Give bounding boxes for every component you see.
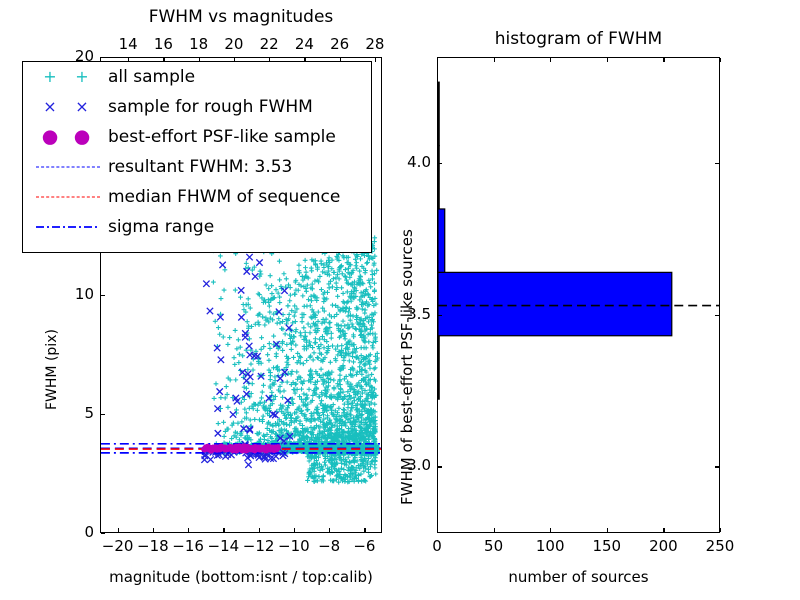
legend-label: resultant FWHM: 3.53 <box>108 159 292 176</box>
tick-label: 10 <box>56 285 94 303</box>
right-plot-axes <box>437 57 720 533</box>
legend-key <box>30 187 108 207</box>
figure-canvas: FWHM vs magnitudes 1416182022242628 −20−… <box>0 0 800 600</box>
histogram-bar <box>438 209 445 272</box>
hist-x-tick-top <box>720 58 721 62</box>
x-tick-mark <box>118 528 119 532</box>
legend-key <box>30 217 108 237</box>
legend-label: best-effort PSF-like sample <box>108 129 336 146</box>
y-tick-mark <box>101 295 105 296</box>
hist-x-tick-top <box>663 58 664 62</box>
hist-y-tick-mark-right <box>715 315 719 316</box>
plus-icon: + <box>75 69 88 85</box>
legend-entry: ××sample for rough FWHM <box>23 92 371 122</box>
dashdot-line-icon <box>36 224 100 230</box>
dashed-line-icon <box>36 167 100 168</box>
histogram-bars <box>438 82 672 399</box>
hist-y-tick-mark-right <box>715 163 719 164</box>
legend-entry: ++all sample <box>23 62 371 92</box>
left-plot-xlabel: magnitude (bottom:isnt / top:calib) <box>100 568 382 586</box>
right-plot-title: histogram of FWHM <box>437 29 720 49</box>
right-plot-ylabel: FWHM of best-effort PSF-like sources <box>398 229 416 505</box>
legend-key: ++ <box>30 67 108 87</box>
left-plot-ylabel: FWHM (pix) <box>44 329 60 410</box>
y-tick-mark <box>101 533 105 534</box>
hist-x-tick-top <box>494 58 495 62</box>
histogram-bar <box>438 272 672 335</box>
tick-label: 5 <box>56 404 94 422</box>
y-tick-mark <box>101 57 105 58</box>
hist-y-tick-mark <box>438 466 442 467</box>
tick-label: 20 <box>214 35 254 53</box>
hist-x-tick-top <box>437 58 438 62</box>
legend-key: ●● <box>30 127 108 147</box>
tick-label: 150 <box>585 537 629 555</box>
tick-label: 22 <box>249 35 289 53</box>
top-x-tick-mark <box>375 58 376 62</box>
hist-y-tick-mark-right <box>715 466 719 467</box>
x-tick-mark <box>364 528 365 532</box>
tick-label: 100 <box>528 537 572 555</box>
legend-label: sample for rough FWHM <box>108 99 313 116</box>
plus-icon: + <box>43 69 56 85</box>
legend-key: ×× <box>30 97 108 117</box>
y-tick-mark <box>101 414 105 415</box>
legend-key <box>30 157 108 177</box>
x-tick-mark <box>223 528 224 532</box>
histogram-bar <box>438 146 439 209</box>
legend-entry: ●●best-effort PSF-like sample <box>23 122 371 152</box>
legend-label: sigma range <box>108 219 214 236</box>
hist-y-tick-mark <box>438 163 442 164</box>
tick-label: 50 <box>472 537 516 555</box>
legend-label: median FHWM of sequence <box>108 189 340 206</box>
x-tick-mark <box>329 528 330 532</box>
left-plot-title: FWHM vs magnitudes <box>100 7 382 27</box>
hist-x-tick-mark <box>550 528 551 532</box>
legend-box: ++all sample××sample for rough FWHM●●bes… <box>22 61 372 253</box>
dashed-line-icon <box>36 197 100 198</box>
tick-label: 4.0 <box>393 153 431 171</box>
tick-label: 200 <box>641 537 685 555</box>
histogram-bar <box>438 336 439 399</box>
histogram-plot-area <box>438 58 719 532</box>
tick-label: 0 <box>56 523 94 541</box>
right-plot-xlabel: number of sources <box>437 568 720 586</box>
filled-dot-icon: ● <box>74 128 91 147</box>
hist-x-tick-mark <box>663 528 664 532</box>
hist-x-tick-mark <box>494 528 495 532</box>
tick-label: 16 <box>143 35 183 53</box>
hist-y-tick-mark <box>438 315 442 316</box>
hist-x-tick-mark <box>720 528 721 532</box>
hist-x-tick-top <box>607 58 608 62</box>
tick-label: 18 <box>179 35 219 53</box>
tick-label: 28 <box>355 35 395 53</box>
filled-dot-icon: ● <box>42 128 59 147</box>
x-tick-mark <box>294 528 295 532</box>
histogram-bar <box>438 82 439 145</box>
tick-label: −6 <box>342 537 386 555</box>
hist-x-tick-mark <box>607 528 608 532</box>
hist-x-tick-mark <box>437 528 438 532</box>
legend-label: all sample <box>108 69 195 86</box>
legend-entry: resultant FWHM: 3.53 <box>23 152 371 182</box>
legend-entry: median FHWM of sequence <box>23 182 371 212</box>
tick-label: 24 <box>284 35 324 53</box>
cross-x-icon: × <box>75 99 88 115</box>
tick-label: 26 <box>320 35 360 53</box>
x-tick-mark <box>153 528 154 532</box>
x-tick-mark <box>259 528 260 532</box>
hist-x-tick-top <box>550 58 551 62</box>
legend-entry: sigma range <box>23 212 371 242</box>
tick-label: 0 <box>415 537 459 555</box>
x-tick-mark <box>188 528 189 532</box>
cross-x-icon: × <box>43 99 56 115</box>
tick-label: 250 <box>698 537 742 555</box>
tick-label: 14 <box>108 35 148 53</box>
